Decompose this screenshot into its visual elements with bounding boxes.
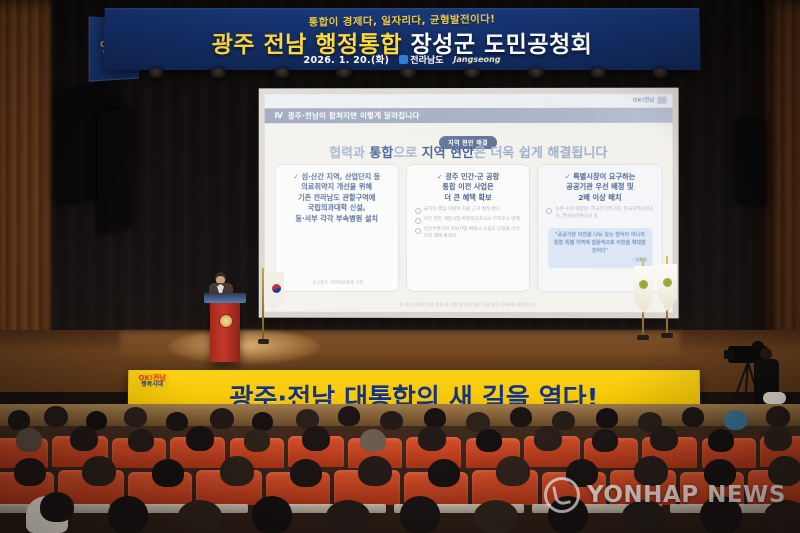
slide-headline: 협력과 통합으로 지역 현안은 더욱 쉽게 해결됩니다	[265, 142, 673, 161]
audience-head	[496, 456, 530, 486]
card-bullet: 국가의 책임·지원적 지원 근거 법적 명시	[415, 207, 522, 214]
card-title-line: 섬·산간 지역, 산업단지 등	[302, 172, 381, 181]
audience-head	[14, 458, 46, 486]
audience-head	[210, 408, 234, 429]
check-icon: ✓	[565, 172, 571, 181]
taeguk-icon	[272, 284, 281, 293]
audience-head	[724, 410, 747, 430]
audience-head	[252, 496, 292, 533]
camera-lens-icon	[724, 350, 734, 359]
operator-press-badge	[763, 392, 786, 404]
photograph-scene: OK!전남 행복시대 통합이 경제다, 일자리다, 균형발전이다! 광주 전남 …	[0, 0, 800, 533]
jeonnam-logo: 전라남도	[399, 52, 443, 65]
slide-footnote: ※ 상기 내용은 관련 법령 제·개정 및 정부 협의 등을 통해 구체화될 예…	[265, 301, 673, 308]
headline-part-3: 은 더욱 쉽게 해결됩니다	[474, 146, 607, 161]
audience-head	[418, 426, 446, 451]
card-note-text: 공공필수 지역의료체계 구축	[312, 280, 363, 286]
card-quote-source: - 대통령	[553, 257, 647, 264]
card-title-line: 기존 전라남도 관할구역에	[298, 193, 375, 202]
flag-cloth	[658, 264, 677, 312]
slide-corner-box-icon	[657, 96, 666, 103]
audience-head	[764, 500, 800, 533]
card-bullet: 이전주변지역 지원사업 확대시 소음도 규정을 이전지역 혜택 확대지	[415, 227, 522, 241]
flag-base	[661, 333, 673, 338]
bullet-dot-icon	[415, 208, 421, 214]
presentation-slide: OK!전남 Ⅳ 광주·전남이 합쳐지면 이렇게 달라집니다 지역 현안 해결 협…	[265, 94, 673, 313]
slide-section-title: 광주·전남이 합쳐지면 이렇게 달라집니다	[288, 110, 420, 121]
card-bullet-text: 이전주변지역 지원사업 확대시 소음도 규정을 이전지역 혜택 확대지	[424, 227, 522, 241]
audience-head	[290, 459, 322, 487]
bullet-dot-icon	[415, 218, 421, 224]
audience-head	[16, 428, 42, 452]
slide-corner-logo: OK!전남	[633, 96, 667, 104]
card-title-line: 더 큰 혜택 확보	[444, 193, 491, 202]
card-title-line: 의료취약지 개선을 위해	[301, 182, 372, 191]
podium-nameplate	[204, 293, 246, 303]
audience-head	[152, 459, 184, 487]
stage-spotlight	[168, 330, 320, 364]
audience-head	[704, 459, 736, 487]
ceremonial-flag	[658, 256, 678, 338]
check-icon: ✓	[293, 172, 299, 181]
bullet-dot-icon	[546, 208, 552, 214]
audience-head	[768, 456, 800, 486]
flag-emblem-icon	[663, 278, 672, 287]
card-title: ✓ 섬·산간 지역, 산업단지 등 의료취약지 개선을 위해 기존 전라남도 관…	[293, 172, 380, 224]
card-title: ✓ 광주 민간·군 공항 통합 이전 사업은 더 큰 혜택 확보	[437, 172, 500, 203]
jangseong-logo-label: Jangseong	[453, 54, 500, 63]
audience-head	[400, 496, 440, 533]
audience-head	[124, 407, 147, 427]
flag-base	[258, 339, 269, 344]
card-title-line: 특별시장이 요구하는	[573, 172, 635, 181]
audience-head	[700, 496, 742, 533]
audience-head	[764, 426, 792, 451]
audience-head	[82, 456, 116, 486]
korean-national-flag	[262, 268, 284, 344]
card-note: 공공필수 지역의료체계 구축	[310, 280, 363, 286]
slide-card-row: ✓ 섬·산간 지역, 산업단지 등 의료취약지 개선을 위해 기존 전라남도 관…	[275, 164, 663, 292]
audience-head	[166, 412, 188, 431]
ceremonial-flag	[634, 258, 654, 340]
audience-head	[360, 429, 386, 452]
audience-head	[510, 407, 532, 427]
audience-head	[178, 500, 222, 533]
slide-card: ✓ 섬·산간 지역, 산업단지 등 의료취약지 개선을 위해 기존 전라남도 관…	[275, 164, 399, 292]
card-bullet-text: 국가의 책임·지원적 지원 근거 법적 명시	[424, 207, 500, 214]
banner-date: 2026. 1. 20.(화)	[303, 52, 389, 66]
headline-part-1: 협력과	[329, 146, 369, 161]
card-bullet-text: 이전 관련 개발사업 확정지식조사시 부지조사 면제	[424, 217, 520, 224]
audience-head	[8, 410, 30, 430]
podium	[210, 300, 240, 362]
audience-head	[128, 429, 154, 452]
audience-head	[428, 459, 460, 487]
flag-cloth	[264, 272, 284, 312]
bullet-dot-icon	[415, 228, 421, 234]
audience-head	[708, 429, 734, 452]
audience-head	[220, 456, 254, 486]
banner-bottom-row: 2026. 1. 20.(화) 전라남도 Jangseong	[103, 52, 700, 66]
slide-section-number: Ⅳ	[275, 111, 283, 120]
audience-head	[592, 429, 618, 452]
slide-corner-logo-label: OK!전남	[633, 96, 655, 104]
flag-pole	[262, 268, 264, 344]
audience-head	[70, 426, 98, 451]
headline-highlight-2: 지역 현안	[422, 146, 474, 161]
card-bullet-text: 농촌·수산 해양원, 한국전기연구원, 한국지역난방공사, 한국농어촌공사 등	[555, 207, 653, 221]
headline-highlight-1: 통합	[369, 146, 393, 161]
audience-head	[186, 426, 214, 451]
audience-head	[424, 408, 446, 428]
lighting-truss	[104, 66, 700, 78]
headline-part-2: 으로	[393, 146, 421, 161]
audience-head	[566, 459, 598, 487]
jeonnam-logo-label: 전라남도	[410, 52, 443, 65]
card-title-line: 동·서부 각각 부속병원 설치	[295, 214, 378, 223]
card-title-line: 광주 민간·군 공항	[445, 172, 499, 181]
audience-head	[622, 500, 666, 533]
flag-emblem-icon	[639, 280, 648, 289]
slide-section-header: Ⅳ 광주·전남이 합쳐지면 이렇게 달라집니다	[265, 108, 673, 124]
card-bullet-list: 농촌·수산 해양원, 한국전기연구원, 한국지역난방공사, 한국농어촌공사 등	[543, 207, 656, 224]
audience-area	[0, 404, 800, 533]
audience-head	[548, 496, 588, 533]
audience-head	[380, 411, 403, 430]
audience-head	[634, 456, 668, 486]
audience-head	[244, 429, 270, 452]
ceiling-speaker-icon	[98, 106, 132, 233]
card-bullet-list: 국가의 책임·지원적 지원 근거 법적 명시 이전 관련 개발사업 확정지식조사…	[412, 207, 525, 244]
event-title-banner: 통합이 경제다, 일자리다, 균형발전이다! 광주 전남 행정통합 장성군 도민…	[103, 8, 700, 70]
audience-head	[682, 407, 704, 427]
audience-head	[474, 500, 518, 533]
audience-head	[338, 406, 360, 426]
audience-head	[40, 492, 74, 522]
audience-head	[766, 406, 790, 427]
audience-head	[108, 496, 148, 533]
card-quote-text: "공공기관 이전을 나눠 갖는 방식이 아니라 통합 특별 지역에 집중적으로 …	[554, 232, 646, 254]
jeonnam-logo-mark-icon	[399, 54, 408, 63]
audience-head	[44, 406, 68, 427]
card-bullet: 농촌·수산 해양원, 한국전기연구원, 한국지역난방공사, 한국농어촌공사 등	[546, 207, 653, 221]
card-title: ✓ 특별시장이 요구하는 공공기관 우선 배정 및 2배 이상 배치	[565, 172, 636, 203]
audience-head	[326, 500, 370, 533]
card-bullet: 이전 관련 개발사업 확정지식조사시 부지조사 면제	[415, 217, 522, 224]
card-title-line: 2배 이상 배치	[578, 193, 621, 202]
audience-head	[476, 429, 502, 452]
audience-head	[534, 426, 562, 451]
audience-head	[596, 408, 618, 428]
audience-head	[358, 456, 392, 486]
audience-head	[302, 426, 330, 451]
flag-cloth	[634, 266, 653, 314]
ceiling-speaker-icon	[736, 118, 766, 207]
slide-card: ✓ 광주 민간·군 공항 통합 이전 사업은 더 큰 혜택 확보 국가의 책임·…	[406, 164, 531, 292]
projection-screen: OK!전남 Ⅳ 광주·전남이 합쳐지면 이렇게 달라집니다 지역 현안 해결 협…	[259, 88, 679, 319]
card-title-line: 공공기관 우선 배정 및	[566, 182, 633, 191]
card-title-line: 통합 이전 사업은	[442, 182, 493, 191]
wood-panel-right	[764, 0, 800, 360]
check-icon: ✓	[437, 172, 443, 181]
podium-emblem-icon	[219, 314, 233, 328]
flag-base	[637, 335, 649, 340]
card-title-line: 국립의과대학 신설,	[308, 203, 366, 212]
audience-head	[650, 426, 678, 451]
